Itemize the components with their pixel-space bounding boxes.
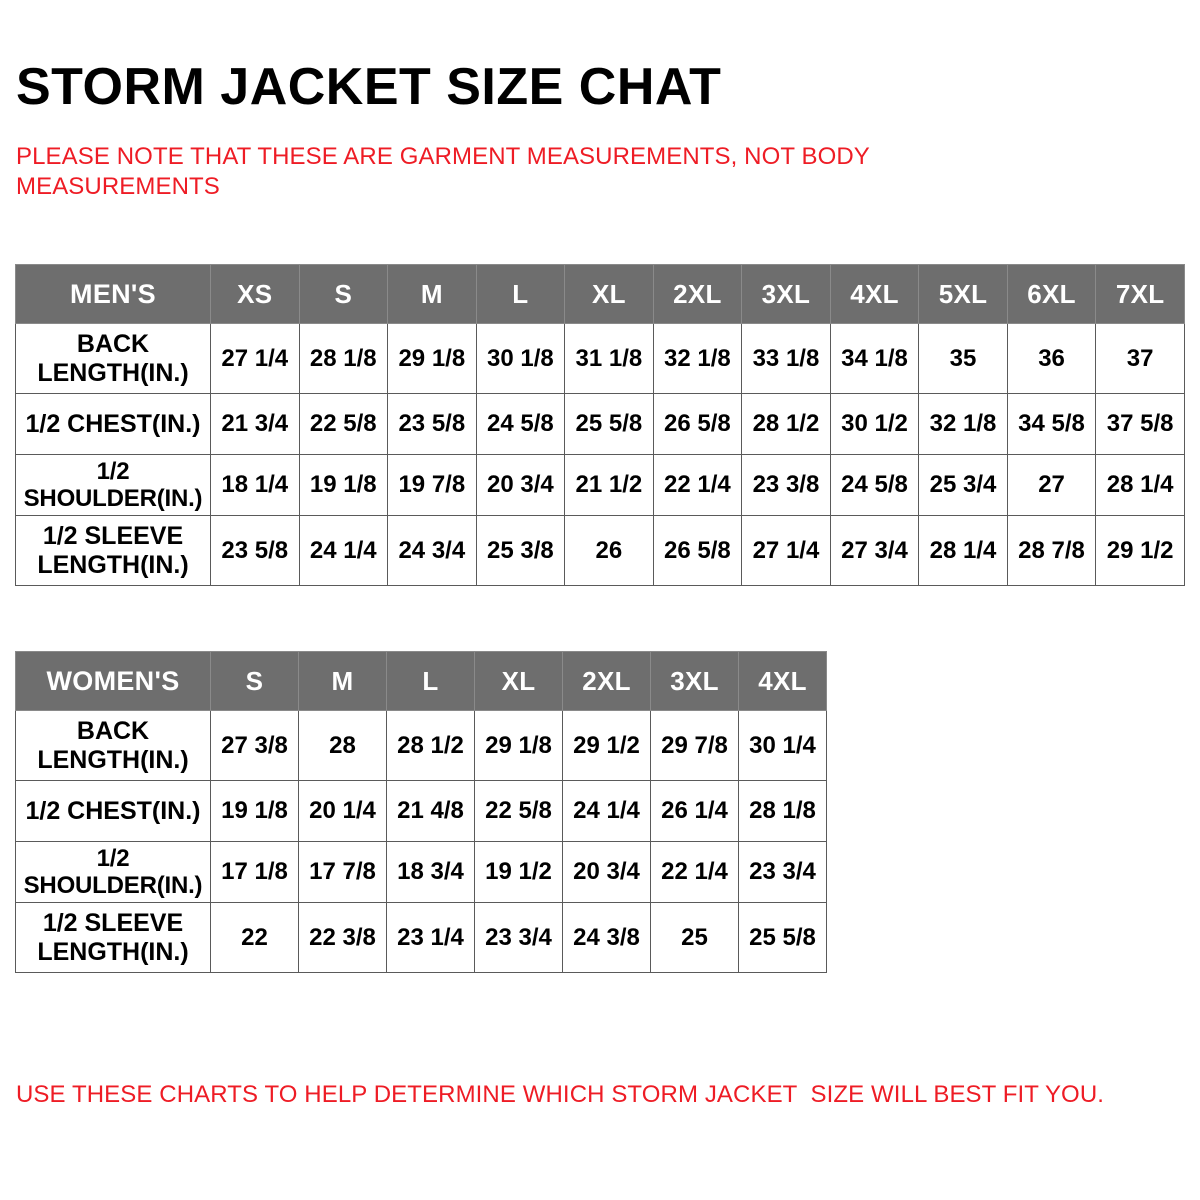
womens-size-header-2xl: 2XL xyxy=(563,652,651,711)
mens-measurement-cell: 28 1/4 xyxy=(1096,455,1185,516)
garment-measurement-note: PLEASE NOTE THAT THESE ARE GARMENT MEASU… xyxy=(16,142,1026,203)
mens-measurement-cell: 28 1/8 xyxy=(299,324,388,394)
womens-size-header-xl: XL xyxy=(475,652,563,711)
womens-size-header-l: L xyxy=(387,652,475,711)
mens-measurement-cell: 27 1/4 xyxy=(211,324,300,394)
mens-measurement-cell: 22 1/4 xyxy=(653,455,742,516)
womens-size-header-s: S xyxy=(211,652,299,711)
mens-measurement-cell: 19 1/8 xyxy=(299,455,388,516)
womens-measurement-cell: 26 1/4 xyxy=(651,781,739,842)
womens-measurement-cell: 20 3/4 xyxy=(563,842,651,903)
size-chart-page: STORM JACKET SIZE CHAT PLEASE NOTE THAT … xyxy=(0,0,1200,1200)
womens-measurement-cell: 22 1/4 xyxy=(651,842,739,903)
mens-measurement-cell: 25 3/8 xyxy=(476,516,565,586)
mens-measurement-cell: 27 3/4 xyxy=(830,516,919,586)
mens-measurement-row: 1/2 SHOULDER(IN.)18 1/419 1/819 7/820 3/… xyxy=(16,455,1185,516)
mens-row-label: 1/2 CHEST(IN.) xyxy=(16,394,211,455)
mens-measurement-cell: 30 1/2 xyxy=(830,394,919,455)
womens-measurement-cell: 29 7/8 xyxy=(651,711,739,781)
mens-size-header-2xl: 2XL xyxy=(653,265,742,324)
mens-size-header-4xl: 4XL xyxy=(830,265,919,324)
mens-measurement-cell: 32 1/8 xyxy=(919,394,1008,455)
mens-measurement-cell: 30 1/8 xyxy=(476,324,565,394)
womens-row-label: 1/2 SHOULDER(IN.) xyxy=(16,842,211,903)
womens-measurement-cell: 19 1/2 xyxy=(475,842,563,903)
mens-measurement-cell: 27 xyxy=(1007,455,1096,516)
womens-measurement-cell: 25 xyxy=(651,903,739,973)
mens-measurement-cell: 31 1/8 xyxy=(565,324,654,394)
mens-measurement-cell: 34 1/8 xyxy=(830,324,919,394)
womens-header-row: WOMEN'SSMLXL2XL3XL4XL xyxy=(16,652,827,711)
womens-table-corner-label: WOMEN'S xyxy=(16,652,211,711)
womens-size-table: WOMEN'SSMLXL2XL3XL4XL BACK LENGTH(IN.)27… xyxy=(15,651,827,973)
womens-size-header-3xl: 3XL xyxy=(651,652,739,711)
mens-size-header-3xl: 3XL xyxy=(742,265,831,324)
mens-size-header-5xl: 5XL xyxy=(919,265,1008,324)
womens-row-label: 1/2 CHEST(IN.) xyxy=(16,781,211,842)
womens-measurement-cell: 19 1/8 xyxy=(211,781,299,842)
mens-measurement-cell: 22 5/8 xyxy=(299,394,388,455)
womens-measurement-cell: 28 1/2 xyxy=(387,711,475,781)
womens-table-body: BACK LENGTH(IN.)27 3/82828 1/229 1/829 1… xyxy=(16,711,827,973)
mens-measurement-row: 1/2 SLEEVE LENGTH(IN.)23 5/824 1/424 3/4… xyxy=(16,516,1185,586)
womens-measurement-cell: 28 1/8 xyxy=(739,781,827,842)
mens-measurement-cell: 29 1/8 xyxy=(388,324,477,394)
womens-measurement-cell: 22 5/8 xyxy=(475,781,563,842)
mens-measurement-row: BACK LENGTH(IN.)27 1/428 1/829 1/830 1/8… xyxy=(16,324,1185,394)
mens-row-label: 1/2 SLEEVE LENGTH(IN.) xyxy=(16,516,211,586)
womens-measurement-row: 1/2 SHOULDER(IN.)17 1/817 7/818 3/419 1/… xyxy=(16,842,827,903)
mens-measurement-cell: 26 xyxy=(565,516,654,586)
footer-help-note: USE THESE CHARTS TO HELP DETERMINE WHICH… xyxy=(16,1081,1146,1109)
mens-table-corner-label: MEN'S xyxy=(16,265,211,324)
mens-measurement-cell: 18 1/4 xyxy=(211,455,300,516)
mens-size-header-s: S xyxy=(299,265,388,324)
womens-measurement-cell: 28 xyxy=(299,711,387,781)
mens-measurement-cell: 20 3/4 xyxy=(476,455,565,516)
mens-measurement-cell: 24 1/4 xyxy=(299,516,388,586)
mens-measurement-cell: 23 5/8 xyxy=(388,394,477,455)
womens-measurement-cell: 24 3/8 xyxy=(563,903,651,973)
womens-measurement-cell: 23 3/4 xyxy=(475,903,563,973)
mens-size-header-m: M xyxy=(388,265,477,324)
womens-measurement-cell: 22 3/8 xyxy=(299,903,387,973)
womens-measurement-cell: 29 1/2 xyxy=(563,711,651,781)
mens-row-label: BACK LENGTH(IN.) xyxy=(16,324,211,394)
mens-size-table: MEN'SXSSMLXL2XL3XL4XL5XL6XL7XL BACK LENG… xyxy=(15,264,1185,586)
mens-measurement-cell: 23 3/8 xyxy=(742,455,831,516)
womens-measurement-row: 1/2 SLEEVE LENGTH(IN.)2222 3/823 1/423 3… xyxy=(16,903,827,973)
womens-measurement-cell: 17 7/8 xyxy=(299,842,387,903)
mens-measurement-cell: 35 xyxy=(919,324,1008,394)
mens-measurement-cell: 34 5/8 xyxy=(1007,394,1096,455)
mens-measurement-cell: 37 xyxy=(1096,324,1185,394)
page-title: STORM JACKET SIZE CHAT xyxy=(16,59,721,115)
womens-measurement-row: BACK LENGTH(IN.)27 3/82828 1/229 1/829 1… xyxy=(16,711,827,781)
womens-measurement-cell: 30 1/4 xyxy=(739,711,827,781)
mens-measurement-cell: 21 1/2 xyxy=(565,455,654,516)
mens-measurement-cell: 28 1/4 xyxy=(919,516,1008,586)
mens-size-header-6xl: 6XL xyxy=(1007,265,1096,324)
mens-measurement-row: 1/2 CHEST(IN.)21 3/422 5/823 5/824 5/825… xyxy=(16,394,1185,455)
mens-measurement-cell: 36 xyxy=(1007,324,1096,394)
womens-size-header-m: M xyxy=(299,652,387,711)
womens-measurement-cell: 25 5/8 xyxy=(739,903,827,973)
mens-measurement-cell: 19 7/8 xyxy=(388,455,477,516)
mens-measurement-cell: 27 1/4 xyxy=(742,516,831,586)
mens-table-head: MEN'SXSSMLXL2XL3XL4XL5XL6XL7XL xyxy=(16,265,1185,324)
mens-measurement-cell: 28 1/2 xyxy=(742,394,831,455)
womens-size-header-4xl: 4XL xyxy=(739,652,827,711)
mens-measurement-cell: 29 1/2 xyxy=(1096,516,1185,586)
womens-measurement-row: 1/2 CHEST(IN.)19 1/820 1/421 4/822 5/824… xyxy=(16,781,827,842)
womens-measurement-cell: 21 4/8 xyxy=(387,781,475,842)
mens-size-header-xl: XL xyxy=(565,265,654,324)
mens-measurement-cell: 24 5/8 xyxy=(830,455,919,516)
womens-row-label: BACK LENGTH(IN.) xyxy=(16,711,211,781)
womens-measurement-cell: 18 3/4 xyxy=(387,842,475,903)
womens-table-head: WOMEN'SSMLXL2XL3XL4XL xyxy=(16,652,827,711)
womens-measurement-cell: 20 1/4 xyxy=(299,781,387,842)
mens-measurement-cell: 24 3/4 xyxy=(388,516,477,586)
mens-measurement-cell: 21 3/4 xyxy=(211,394,300,455)
mens-measurement-cell: 25 3/4 xyxy=(919,455,1008,516)
mens-measurement-cell: 24 5/8 xyxy=(476,394,565,455)
mens-measurement-cell: 33 1/8 xyxy=(742,324,831,394)
mens-table-body: BACK LENGTH(IN.)27 1/428 1/829 1/830 1/8… xyxy=(16,324,1185,586)
mens-header-row: MEN'SXSSMLXL2XL3XL4XL5XL6XL7XL xyxy=(16,265,1185,324)
mens-size-header-l: L xyxy=(476,265,565,324)
mens-measurement-cell: 32 1/8 xyxy=(653,324,742,394)
womens-measurement-cell: 23 3/4 xyxy=(739,842,827,903)
womens-row-label: 1/2 SLEEVE LENGTH(IN.) xyxy=(16,903,211,973)
mens-measurement-cell: 37 5/8 xyxy=(1096,394,1185,455)
mens-measurement-cell: 25 5/8 xyxy=(565,394,654,455)
womens-measurement-cell: 27 3/8 xyxy=(211,711,299,781)
mens-measurement-cell: 26 5/8 xyxy=(653,394,742,455)
mens-size-header-7xl: 7XL xyxy=(1096,265,1185,324)
womens-measurement-cell: 17 1/8 xyxy=(211,842,299,903)
mens-measurement-cell: 28 7/8 xyxy=(1007,516,1096,586)
mens-row-label: 1/2 SHOULDER(IN.) xyxy=(16,455,211,516)
mens-measurement-cell: 23 5/8 xyxy=(211,516,300,586)
womens-measurement-cell: 22 xyxy=(211,903,299,973)
womens-measurement-cell: 23 1/4 xyxy=(387,903,475,973)
mens-size-header-xs: XS xyxy=(211,265,300,324)
mens-measurement-cell: 26 5/8 xyxy=(653,516,742,586)
womens-measurement-cell: 29 1/8 xyxy=(475,711,563,781)
womens-measurement-cell: 24 1/4 xyxy=(563,781,651,842)
